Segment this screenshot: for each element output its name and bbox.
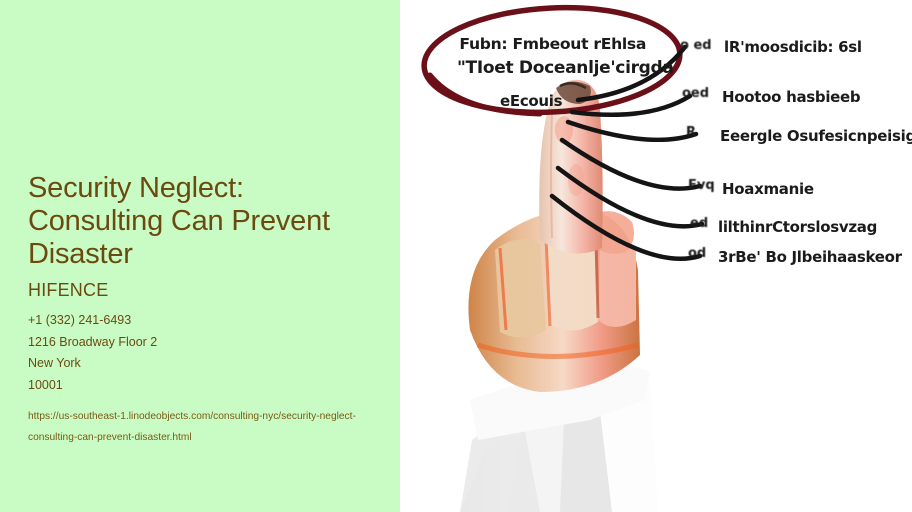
- illustration-panel: Fubn: Fmbeout rEhlsa "TIoet Doceanlje'ci…: [400, 0, 912, 512]
- address-city: New York: [28, 353, 382, 375]
- list-item: lilthinrCtorslosvzag: [718, 218, 877, 236]
- circled-text-line-1: Fubn: Fmbeout rEhlsa: [459, 35, 646, 53]
- list-bullet: o ed: [680, 38, 712, 53]
- list-bullet: od: [688, 246, 706, 261]
- article-url[interactable]: https://us-southeast-1.linodeobjects.com…: [28, 407, 358, 448]
- list-item: Eeergle Osufesicnpeisigl: [720, 127, 912, 145]
- address-zip: 10001: [28, 375, 382, 397]
- circled-text-line-3: eEcouis: [500, 92, 562, 110]
- left-text-panel: Security Neglect: Consulting Can Prevent…: [0, 0, 400, 512]
- company-name: HIFENCE: [28, 280, 382, 301]
- list-item: lR'moosdicib: 6sl: [724, 38, 862, 56]
- page-title: Security Neglect: Consulting Can Prevent…: [28, 172, 380, 270]
- list-item: Hoaxmanie: [722, 180, 814, 198]
- list-bullet: oed: [682, 86, 709, 101]
- address-line-1: 1216 Broadway Floor 2: [28, 332, 382, 354]
- list-item: Hootoo hasbieeb: [722, 88, 860, 106]
- list-bullet: Fvq: [688, 178, 715, 193]
- list-bullet: R: [686, 125, 696, 140]
- phone-number[interactable]: +1 (332) 241-6493: [28, 310, 382, 332]
- poster-root: Security Neglect: Consulting Can Prevent…: [0, 0, 912, 512]
- circled-text-line-2: "TIoet Doceanlje'cirgda: [457, 58, 674, 78]
- list-item: 3rBe' Bo Jlbeihaaskeor: [718, 248, 902, 266]
- list-bullet: ed: [690, 216, 708, 231]
- left-content-block: Security Neglect: Consulting Can Prevent…: [28, 172, 382, 448]
